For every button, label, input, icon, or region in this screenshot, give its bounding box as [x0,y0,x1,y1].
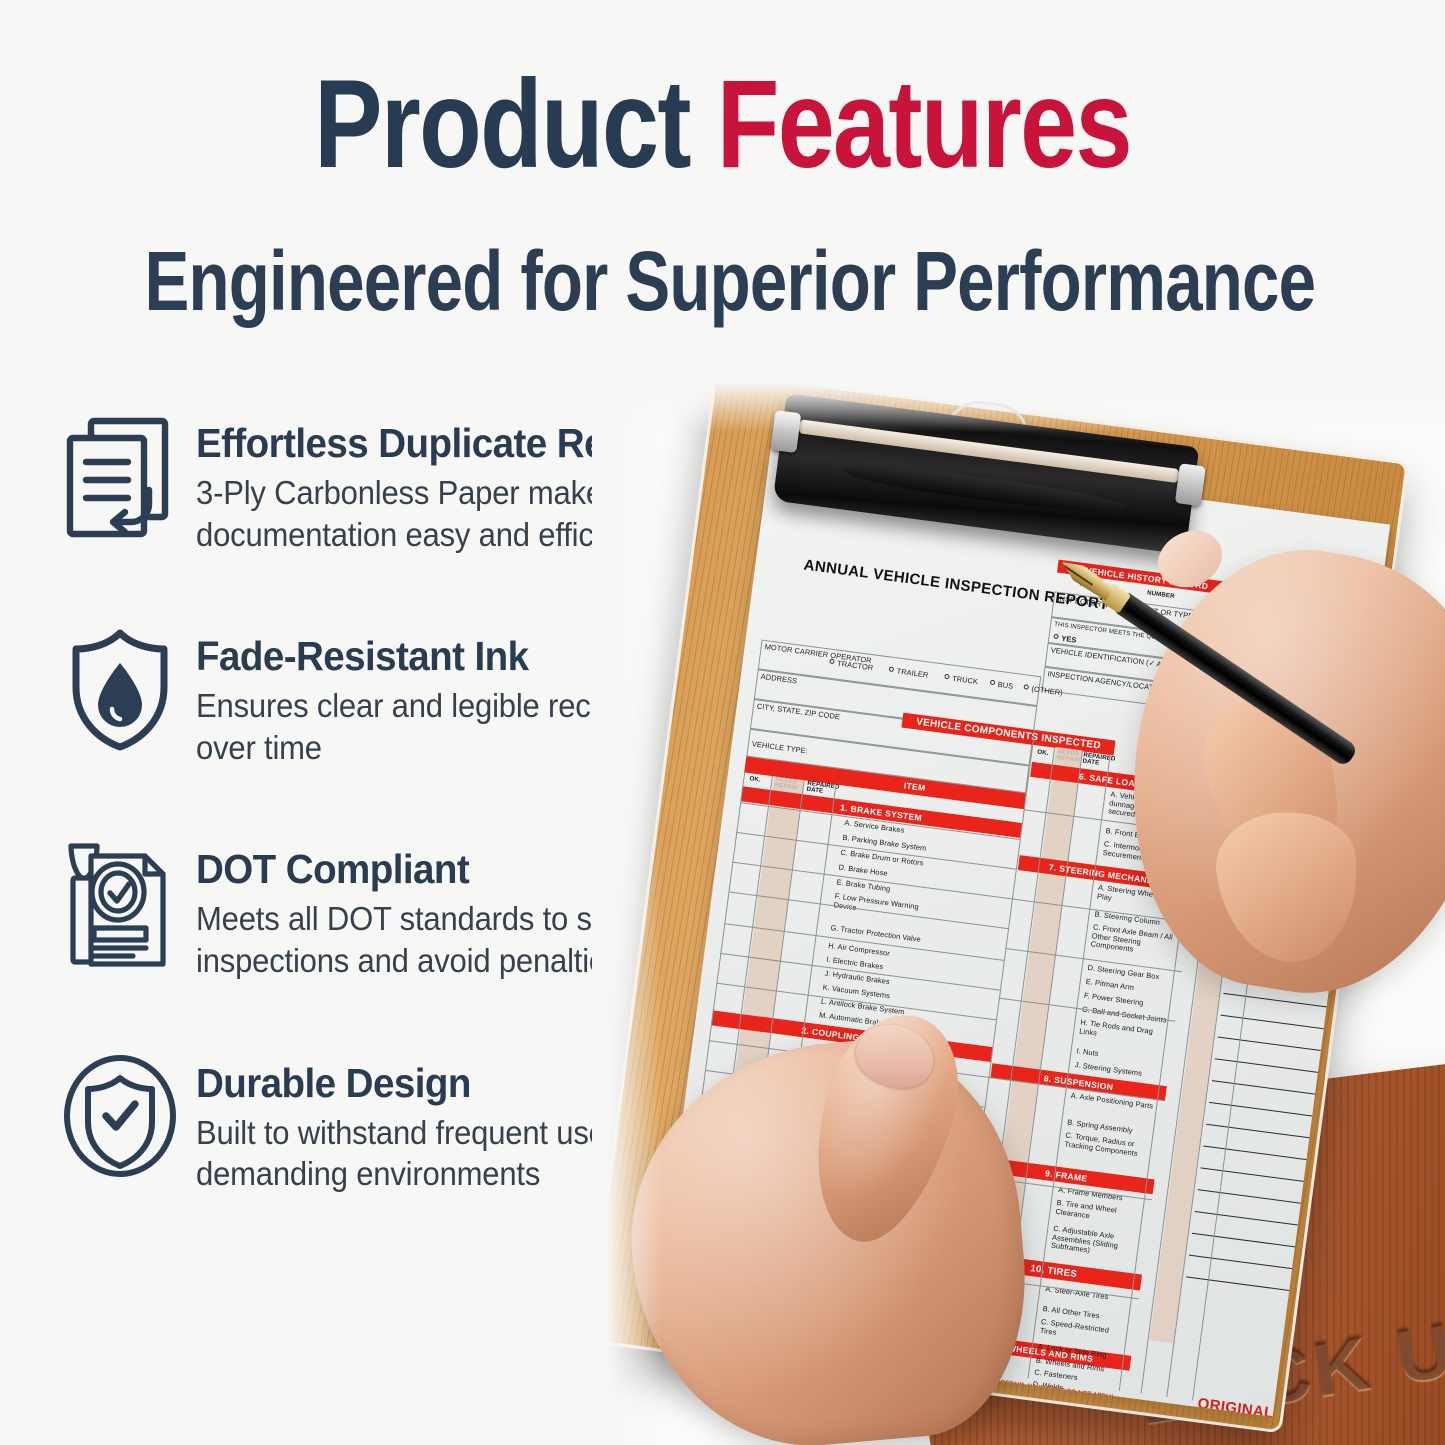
clip-pivot-right [1175,463,1206,506]
feature-description-line1: Ensures clear and legible records [196,687,650,724]
remarks-line [1203,1146,1306,1160]
section-name-10: TIRES [1047,1265,1078,1280]
document-check-shield-icon [58,834,182,966]
col-repaired-date-left: REPAIRED DATE [806,781,833,797]
feature-description: Ensures clear and legible records over t… [196,685,650,768]
page-title: Product Features [130,62,1315,187]
feature-description-line2: over time [196,729,322,766]
feature-title: Durable Design [196,1062,638,1105]
feature-description-line1: 3-Ply Carbonless Paper makes [196,474,618,511]
feature-title: Fade-Resistant Ink [196,635,650,678]
section-name-9: FRAME [1055,1169,1088,1183]
remarks-line [1221,1015,1324,1029]
remarks-line [1195,1211,1298,1225]
number-label: NUMBER [1147,589,1175,600]
remarks-line [1212,1080,1315,1094]
section-num-8: 8. [1043,1073,1052,1084]
duplicate-documents-icon [58,408,182,540]
remarks-line [1209,1102,1312,1116]
remarks-line [1218,1036,1321,1050]
section-num-1: 1. [840,802,849,813]
feature-description-line2: inspections and avoid penalties [196,942,621,979]
remarks-line [1215,1058,1318,1072]
section-1-item-g: G. Tractor Protection Valve [830,923,921,944]
col-ok-mid: OK. [1037,749,1049,757]
section-7-item-i: I. Nuts [1076,1046,1099,1058]
section-8-item-c: C. Torque, Radius or Tracking Components [1064,1131,1151,1159]
page-title-part1: Product [314,55,690,194]
col-ok-left: OK. [749,775,761,783]
feature-description: Built to withstand frequent use in deman… [196,1112,638,1195]
section-7-item-e: E. Pitman Arm [1085,977,1134,992]
clip-pivot-left [770,410,801,453]
remarks-line [1223,993,1326,1007]
section-num-7: 7. [1048,862,1057,873]
page-title-part2: Features [717,55,1131,194]
remarks-line [1189,1255,1292,1269]
remarks-line [1200,1167,1303,1181]
page-subtitle: Engineered for Superior Performance [145,239,1301,323]
remarks-line [1198,1189,1301,1203]
product-photo: BUCK U.S. ANNUAL VEHICLE INSPECTION REPO… [592,372,1445,1445]
feature-description-line2: documentation easy and efficient [196,516,643,553]
right-middle-finger [1210,804,1367,970]
col-repaired-date-mid: REPAIRED DATE [1082,753,1105,768]
section-10-item-c: C. Speed-Restricted Tires [1039,1318,1126,1346]
section-7-item-c: C. Front Axle Beam / All Other Steering … [1090,923,1181,960]
section-9-item-c: C. Adjustable Axle Assemblies (Sliding S… [1050,1225,1139,1262]
col-item-left: ITEM [903,780,926,793]
remarks-line [1192,1233,1295,1247]
remarks-line [1206,1124,1309,1138]
section-1-item-e: E. Brake Tubing [836,877,891,893]
remarks-line [1186,1276,1289,1290]
yes-label: YES [1061,634,1077,645]
feature-description-line2: demanding environments [196,1155,540,1192]
section-num-9: 9. [1045,1168,1054,1179]
shield-ink-drop-icon [58,621,182,753]
feature-description-line1: Built to withstand frequent use in [196,1114,638,1151]
vehicle-type-bus-label: BUS [997,680,1014,691]
section-9-item-b: B. Tire and Wheel Clearance [1055,1199,1142,1227]
shield-check-circle-icon [58,1048,182,1180]
page-header: Product Features Engineered for Superior… [0,0,1445,323]
